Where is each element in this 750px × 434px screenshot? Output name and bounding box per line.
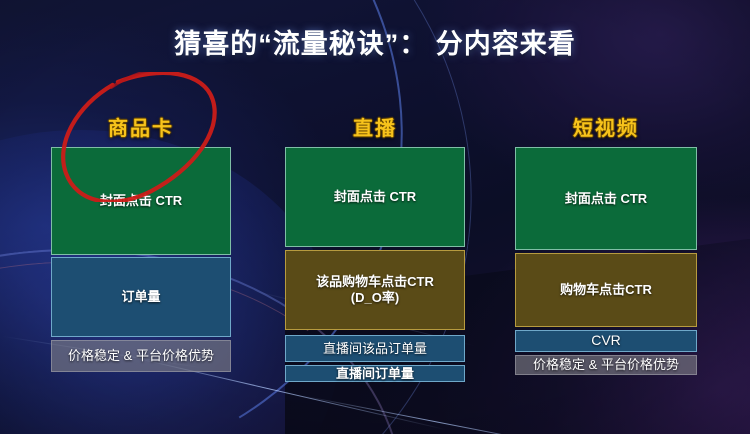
column-header-livestream: 直播 (285, 112, 465, 141)
column-short-video: 短视频 封面点击 CTR 购物车点击CTR CVR 价格稳定 & 平台价格优势 (515, 112, 697, 375)
metric-block-live-item-orders: 直播间该品订单量 (285, 335, 465, 362)
slide-canvas: 猜喜的“流量秘诀”： 分内容来看 商品卡 封面点击 CTR 订单量 价格稳定 &… (0, 0, 750, 434)
column-header-product-card: 商品卡 (51, 112, 231, 141)
metric-block-order-count: 订单量 (51, 257, 231, 337)
metric-block-price-stability: 价格稳定 & 平台价格优势 (51, 340, 231, 372)
metric-block-cover-ctr: 封面点击 CTR (515, 147, 697, 250)
slide-title: 猜喜的“流量秘诀”： 分内容来看 (0, 22, 750, 61)
metric-block-price-stability: 价格稳定 & 平台价格优势 (515, 355, 697, 375)
column-header-short-video: 短视频 (515, 112, 697, 141)
metric-block-cover-ctr: 封面点击 CTR (51, 147, 231, 255)
metric-block-live-room-orders: 直播间订单量 (285, 365, 465, 382)
metric-block-cover-ctr: 封面点击 CTR (285, 147, 465, 247)
metric-block-cvr: CVR (515, 330, 697, 352)
metric-block-cart-ctr-do-rate: 该品购物车点击CTR (D_O率) (285, 250, 465, 330)
column-livestream: 直播 封面点击 CTR 该品购物车点击CTR (D_O率) 直播间该品订单量 直… (285, 112, 465, 382)
column-product-card: 商品卡 封面点击 CTR 订单量 价格稳定 & 平台价格优势 (51, 112, 231, 374)
metric-block-cart-ctr: 购物车点击CTR (515, 253, 697, 327)
